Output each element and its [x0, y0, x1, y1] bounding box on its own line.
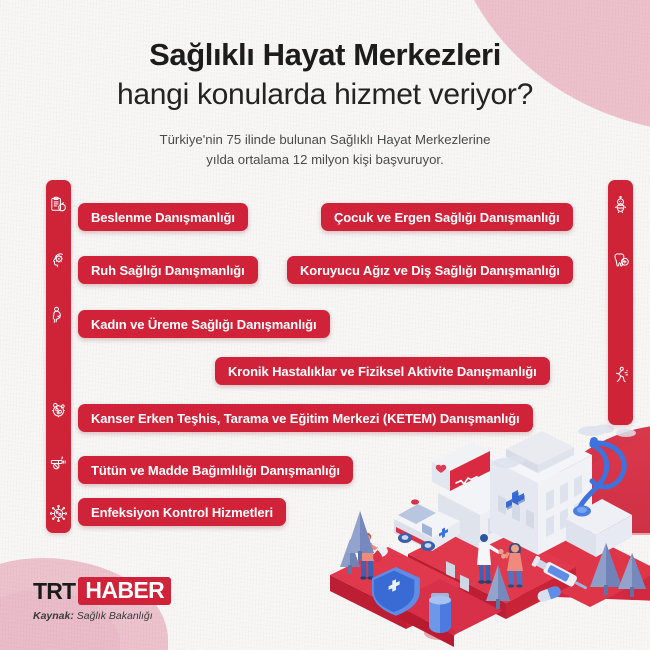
service-pill-4[interactable]: Kadın ve Üreme Sağlığı Danışmanlığı	[78, 310, 330, 338]
subtitle-line2: yılda ortalama 12 milyon kişi başvuruyor…	[0, 150, 650, 170]
tooth-plus-icon	[608, 251, 633, 270]
service-pill-3[interactable]: Koruyucu Ağız ve Diş Sağlığı Danışmanlığ…	[287, 256, 573, 284]
page-title-line2: hangi konularda hizmet veriyor?	[0, 77, 650, 113]
no-smoking-icon	[46, 453, 71, 472]
service-label: Koruyucu Ağız ve Diş Sağlığı Danışmanlığ…	[300, 263, 560, 278]
service-label: Tütün ve Madde Bağımlılığı Danışmanlığı	[91, 463, 340, 478]
service-label: Kadın ve Üreme Sağlığı Danışmanlığı	[91, 317, 317, 332]
service-label: Çocuk ve Ergen Sağlığı Danışmanlığı	[334, 210, 560, 225]
clipboard-apple-icon	[46, 196, 71, 215]
hospital-illustration	[330, 415, 650, 650]
cancer-cell-icon	[46, 401, 71, 420]
source-value: Sağlık Bakanlığı	[77, 610, 153, 622]
service-pill-1[interactable]: Çocuk ve Ergen Sağlığı Danışmanlığı	[321, 203, 573, 231]
service-label: Ruh Sağlığı Danışmanlığı	[91, 263, 245, 278]
service-pill-8[interactable]: Enfeksiyon Kontrol Hizmetleri	[78, 498, 286, 526]
service-pill-0[interactable]: Beslenme Danışmanlığı	[78, 203, 248, 231]
service-pill-2[interactable]: Ruh Sağlığı Danışmanlığı	[78, 256, 258, 284]
virus-icon	[46, 504, 71, 523]
pregnant-woman-icon	[46, 306, 71, 325]
service-pill-7[interactable]: Tütün ve Madde Bağımlılığı Danışmanlığı	[78, 456, 353, 484]
page-title-line1: Sağlıklı Hayat Merkezleri	[0, 38, 650, 73]
service-label: Enfeksiyon Kontrol Hizmetleri	[91, 505, 273, 520]
service-label: Beslenme Danışmanlığı	[91, 210, 235, 225]
service-pill-6[interactable]: Kanser Erken Teşhis, Tarama ve Eğitim Me…	[78, 404, 533, 432]
logo-haber-text: HABER	[78, 577, 171, 605]
infographic-poster: Sağlıklı Hayat Merkezleri hangi konulard…	[0, 0, 650, 650]
subtitle-line1: Türkiye'nin 75 ilinde bulunan Sağlıklı H…	[0, 130, 650, 150]
right-icon-rail	[608, 180, 633, 425]
logo-trt-text: TRT	[33, 578, 75, 605]
baby-icon	[608, 196, 633, 215]
trt-haber-logo[interactable]: TRT HABER	[33, 578, 171, 604]
footer: TRT HABER Kaynak: Sağlık Bakanlığı	[33, 578, 171, 622]
left-icon-rail	[46, 180, 71, 533]
service-label: Kanser Erken Teşhis, Tarama ve Eğitim Me…	[91, 411, 520, 426]
poster-header: Sağlıklı Hayat Merkezleri hangi konulard…	[0, 0, 650, 171]
service-label: Kronik Hastalıklar ve Fiziksel Aktivite …	[228, 364, 537, 379]
running-person-icon	[608, 366, 633, 385]
source-label: Kaynak:	[33, 610, 74, 622]
service-pill-5[interactable]: Kronik Hastalıklar ve Fiziksel Aktivite …	[215, 357, 550, 385]
source-line: Kaynak: Sağlık Bakanlığı	[33, 610, 171, 622]
brain-head-icon	[46, 251, 71, 270]
subtitle: Türkiye'nin 75 ilinde bulunan Sağlıklı H…	[0, 130, 650, 171]
